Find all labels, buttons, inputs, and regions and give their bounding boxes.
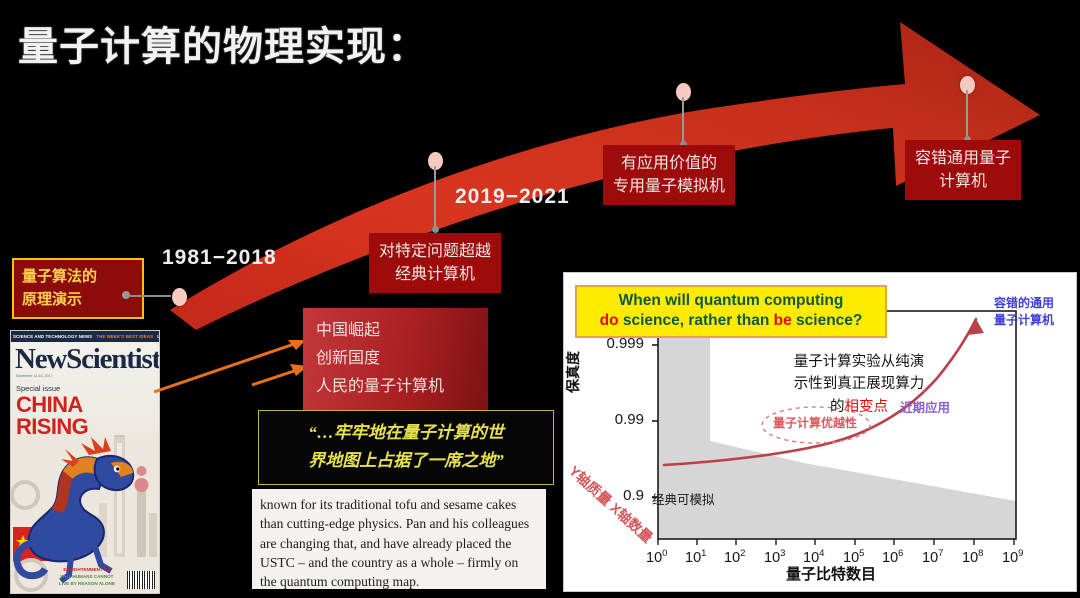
leader-line-4 [966, 90, 968, 138]
algorithm-demo-box: 量子算法的 原理演示 [12, 258, 144, 319]
chart-annotation-quantum-advantage: 量子计算优越性 [773, 414, 857, 431]
chart-annotation-fault-tolerant: 容错的通用 量子计算机 [978, 295, 1070, 329]
chart-title-do: do [600, 312, 619, 329]
quote-line1: “…牢牢地在量子计算的世 [263, 419, 549, 447]
china-box-line3: 人民的量子计算机 [316, 373, 488, 401]
chart-xtick-1: 101 [685, 548, 706, 566]
magazine-barcode [127, 571, 155, 589]
chart-xtick-6: 106 [882, 548, 903, 566]
chart-xtick-3: 103 [764, 548, 785, 566]
chart-annotation-near-term: 近期应用 [900, 397, 950, 416]
chart-annotation-line2: 示性到真正展现算力 [764, 373, 954, 395]
chart-xtick-2: 102 [724, 548, 745, 566]
milestone-3-line2: 计算机 [915, 170, 1011, 193]
chart-x-axis-label: 量子比特数目 [786, 563, 876, 584]
milestone-2-line1: 有应用价值的 [613, 152, 725, 175]
leader-line-2 [434, 166, 436, 228]
chart-title-line1: When will quantum computing [581, 291, 881, 311]
magazine-footer-line1: WHY HUMANS CANNOT [59, 574, 115, 581]
year-label-1981-2018: 1981−2018 [162, 246, 277, 270]
algorithm-connector-line [126, 295, 171, 297]
magazine-footer-text: ENLIGHTENMENT 2.0 WHY HUMANS CANNOT LIVE… [59, 567, 115, 588]
presentation-slide: 量子计算的物理实现： 1981−2018 2019−2021 对特定问题超越 经… [0, 0, 1080, 598]
chart-title-box: When will quantum computing do science, … [575, 285, 887, 338]
chart-y-axis-label: 保真度 [563, 351, 583, 393]
new-scientist-magazine-cover: SCIENCE AND TECHNOLOGY NEWS THE WEEK'S B… [10, 330, 160, 594]
milestone-box-2: 有应用价值的 专用量子模拟机 [603, 145, 735, 205]
algorithm-demo-line2: 原理演示 [22, 289, 134, 312]
chart-xtick-0: 100 [646, 548, 667, 566]
article-excerpt-paragraph: known for its traditional tofu and sesam… [252, 489, 546, 589]
chart-title-end: science? [792, 312, 863, 329]
chart-ytick-0999: 0.999 [592, 335, 644, 352]
chart-title-line2: do science, rather than be science? [581, 311, 881, 331]
quote-line2: 界地图上占据了一席之地” [263, 447, 549, 475]
milestone-2-line2: 专用量子模拟机 [613, 175, 725, 198]
leader-endpoint-2 [432, 226, 439, 233]
quantum-computing-chart-panel: When will quantum computing do science, … [563, 272, 1077, 592]
magazine-bottom-bar: ENLIGHTENMENT 2.0 WHY HUMANS CANNOT LIVE… [11, 563, 159, 593]
magazine-footer-line2: LIVE BY REASON ALONE [59, 581, 115, 588]
chart-title-be: be [774, 312, 792, 329]
milestone-box-3: 容错通用量子 计算机 [905, 140, 1021, 200]
chart-xtick-8: 108 [962, 548, 983, 566]
leader-line-3 [682, 97, 684, 143]
chart-annotation-ft-line2: 量子计算机 [978, 312, 1070, 329]
timeline-marker-dot-1 [172, 288, 187, 306]
magazine-strip-item-2: THE WEEK'S BEST IDEAS [94, 334, 155, 339]
magazine-strip-item-1: SCIENCE AND TECHNOLOGY NEWS [11, 334, 94, 339]
china-box-line2: 创新国度 [316, 345, 488, 373]
algorithm-demo-line1: 量子算法的 [22, 266, 134, 289]
magazine-headline: CHINA RISING [11, 394, 159, 438]
china-rising-box: 中国崛起 创新国度 人民的量子计算机 [303, 308, 488, 411]
chart-xtick-9: 109 [1002, 548, 1023, 566]
milestone-box-1: 对特定问题超越 经典计算机 [369, 233, 501, 293]
china-box-line1: 中国崛起 [316, 317, 488, 345]
magazine-footer-title: ENLIGHTENMENT 2.0 [59, 567, 115, 574]
milestone-1-line2: 经典计算机 [379, 263, 491, 286]
chart-ytick-099: 0.99 [592, 411, 644, 428]
chart-annotation-classically-simulable: 经典可模拟 [652, 489, 715, 508]
milestone-1-line1: 对特定问题超越 [379, 240, 491, 263]
quote-box: “…牢牢地在量子计算的世 界地图上占据了一席之地” [258, 410, 554, 485]
chart-annotation-ft-line1: 容错的通用 [978, 295, 1070, 312]
chart-title-mid: science, rather than [619, 312, 774, 329]
magazine-logo: NewScientist [11, 342, 159, 374]
milestone-3-line1: 容错通用量子 [915, 147, 1011, 170]
year-label-2019-2021: 2019−2021 [455, 185, 570, 209]
chart-annotation-line1: 量子计算实验从纯演 [764, 351, 954, 373]
magazine-top-strip: SCIENCE AND TECHNOLOGY NEWS THE WEEK'S B… [11, 331, 159, 342]
chart-xtick-7: 107 [922, 548, 943, 566]
